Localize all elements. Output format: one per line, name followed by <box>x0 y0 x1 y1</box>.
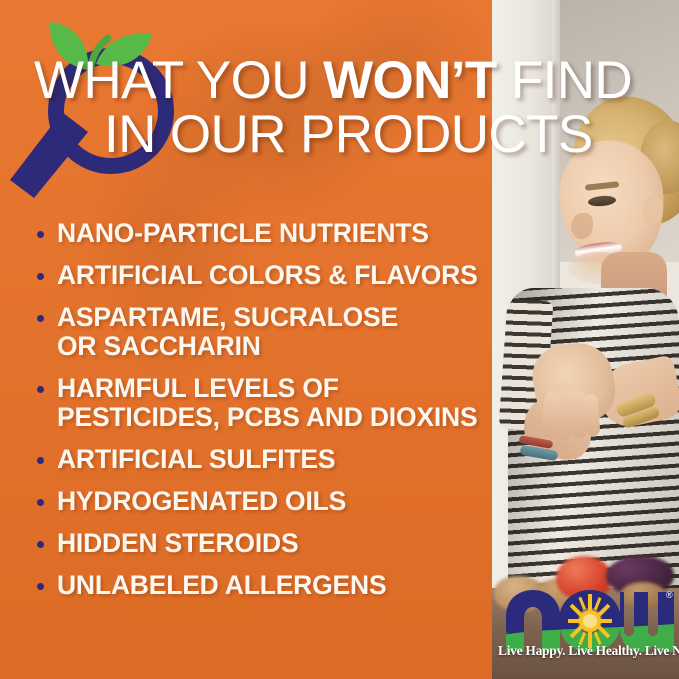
registered-trademark: ® <box>666 590 673 600</box>
headline-part-find: FIND <box>497 51 632 110</box>
excluded-ingredients-list: NANO-PARTICLE NUTRIENTS ARTIFICIAL COLOR… <box>32 219 484 613</box>
headline-line-2: IN OUR PRODUCTS <box>0 108 620 162</box>
photo-finger <box>584 394 601 437</box>
list-item: ASPARTAME, SUCRALOSE OR SACCHARIN <box>32 303 484 361</box>
list-item: ARTIFICIAL SULFITES <box>32 445 484 474</box>
headline-line-1: WHAT YOU WON’T FIND <box>0 54 620 108</box>
list-item: NANO-PARTICLE NUTRIENTS <box>32 219 484 248</box>
brand-tagline: Live Happy. Live Healthy. Live NOW. <box>498 643 674 659</box>
list-item: UNLABELED ALLERGENS <box>32 571 484 600</box>
page-title: WHAT YOU WON’T FIND IN OUR PRODUCTS <box>0 54 620 162</box>
headline-part-what-you: WHAT YOU <box>34 51 323 110</box>
photo-woman-nose <box>571 213 593 239</box>
ad-banner: WHAT YOU WON’T FIND IN OUR PRODUCTS NANO… <box>0 0 679 679</box>
list-item: HYDROGENATED OILS <box>32 487 484 516</box>
list-item: ARTIFICIAL COLORS & FLAVORS <box>32 261 484 290</box>
list-item: HARMFUL LEVELS OF PESTICIDES, PCBS AND D… <box>32 374 484 432</box>
photo-woman-ear <box>643 196 663 223</box>
list-item: HIDDEN STEROIDS <box>32 529 484 558</box>
headline-emphasis-wont: WON’T <box>323 51 497 110</box>
